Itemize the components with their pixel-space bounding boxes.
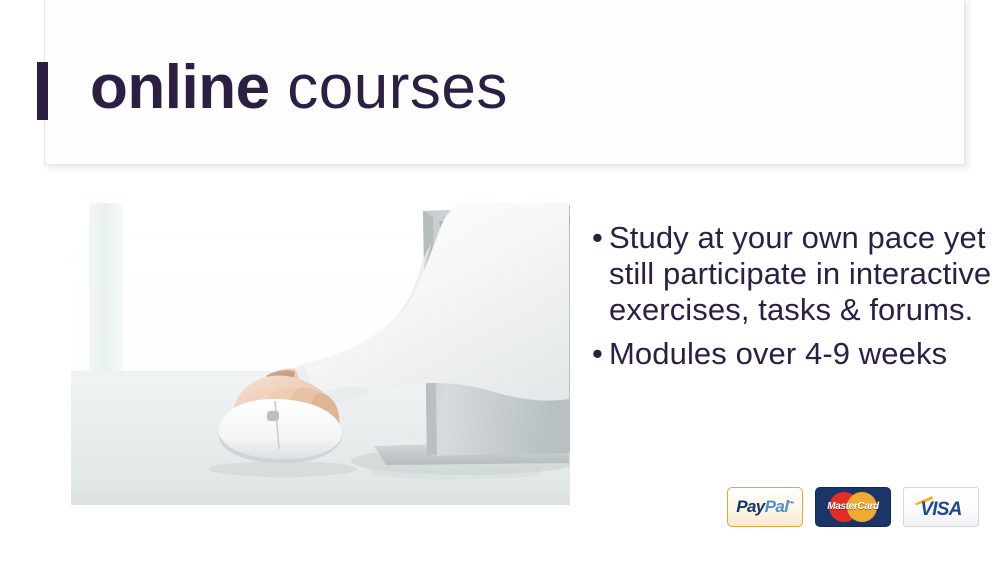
page-title-strong: online: [90, 53, 270, 122]
paypal-word-pal: Pal: [765, 497, 789, 516]
slide-photo: [71, 203, 570, 505]
mastercard-logo-icon: MasterCard: [815, 487, 891, 527]
bullet-list: • Study at your own pace yet still parti…: [592, 220, 992, 380]
paypal-word-pay: Pay: [736, 497, 764, 516]
payment-logos: PayPal™ MasterCard VISA: [727, 487, 979, 527]
paypal-logo-icon: PayPal™: [727, 487, 803, 527]
bullet-marker-icon: •: [592, 220, 609, 256]
mastercard-wordmark: MasterCard: [822, 501, 884, 512]
visa-inner: VISA: [911, 494, 971, 520]
list-item: • Modules over 4-9 weeks: [592, 336, 992, 372]
slide-canvas: online courses: [0, 0, 1001, 564]
photo-illustration: [71, 203, 570, 505]
list-item-text: Modules over 4-9 weeks: [609, 336, 992, 372]
bullet-marker-icon: •: [592, 336, 609, 372]
list-item: • Study at your own pace yet still parti…: [592, 220, 992, 328]
paypal-trademark: ™: [788, 501, 793, 507]
paypal-wordmark: PayPal™: [736, 497, 794, 517]
visa-logo-icon: VISA: [903, 487, 979, 527]
page-title: online courses: [90, 50, 950, 126]
list-item-text: Study at your own pace yet still partici…: [609, 220, 992, 328]
title-accent-bar: [37, 62, 48, 120]
mastercard-circles: MasterCard: [822, 492, 884, 522]
visa-wordmark: VISA: [911, 499, 971, 521]
page-title-rest: courses: [270, 53, 508, 122]
